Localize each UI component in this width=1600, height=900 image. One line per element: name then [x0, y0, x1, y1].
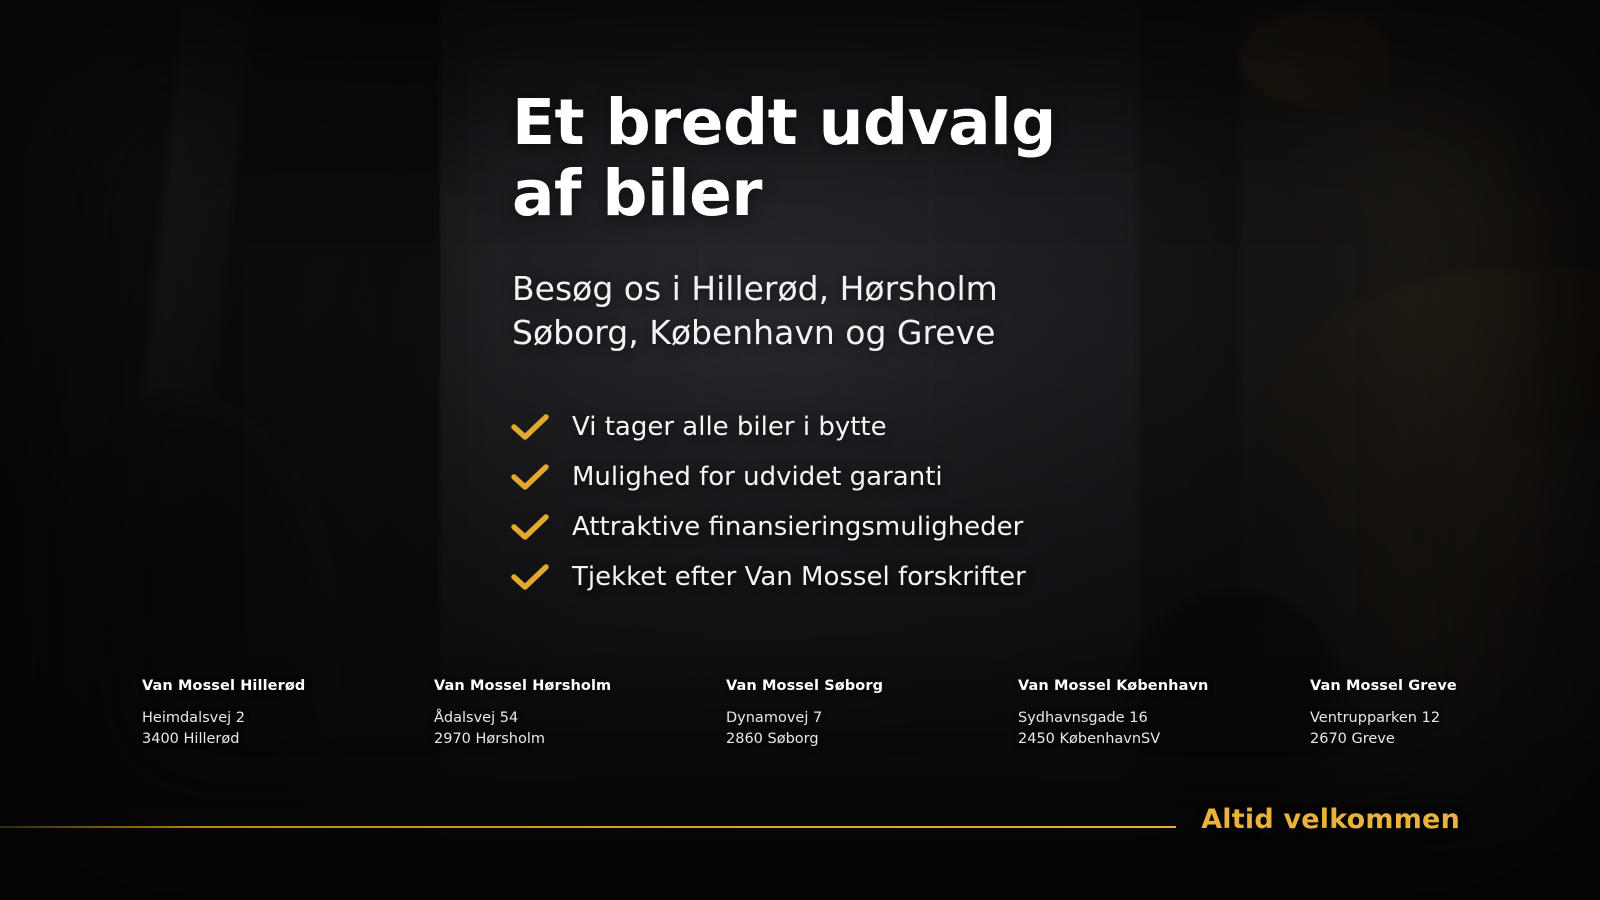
- list-item: Attraktive finansieringsmuligheder: [508, 502, 1026, 552]
- locations-row: Van Mossel Hillerød Heimdalsvej 2 3400 H…: [0, 678, 1600, 749]
- check-icon: [508, 510, 552, 544]
- location-name: Van Mossel Hillerød: [142, 678, 434, 694]
- check-icon: [508, 410, 552, 444]
- headline-line-1: Et bredt udvalg: [512, 86, 1056, 159]
- location-city: 2670 Greve: [1310, 729, 1600, 750]
- list-item: Vi tager alle biler i bytte: [508, 402, 1026, 452]
- page-subtitle: Besøg os i Hillerød, Hørsholm Søborg, Kø…: [512, 267, 1232, 354]
- benefit-label: Tjekket efter Van Mossel forskrifter: [572, 564, 1026, 590]
- benefit-label: Attraktive finansieringsmuligheder: [572, 514, 1023, 540]
- brand-tagline: Altid velkommen: [1201, 804, 1460, 835]
- benefits-list: Vi tager alle biler i bytte Mulighed for…: [508, 402, 1026, 602]
- location-name: Van Mossel Søborg: [726, 678, 1018, 694]
- location-name: Van Mossel Greve: [1310, 678, 1600, 694]
- location-city: 3400 Hillerød: [142, 729, 434, 750]
- gold-divider-line: [0, 826, 1176, 828]
- location-card: Van Mossel København Sydhavnsgade 16 245…: [1018, 678, 1310, 749]
- list-item: Tjekket efter Van Mossel forskrifter: [508, 552, 1026, 602]
- check-icon: [508, 460, 552, 494]
- location-street: Dynamovej 7: [726, 708, 1018, 729]
- location-street: Sydhavnsgade 16: [1018, 708, 1310, 729]
- hero-banner: Et bredt udvalg af biler Besøg os i Hill…: [0, 0, 1600, 900]
- benefit-label: Mulighed for udvidet garanti: [572, 464, 943, 490]
- hero-content: Et bredt udvalg af biler Besøg os i Hill…: [0, 0, 1600, 900]
- benefit-label: Vi tager alle biler i bytte: [572, 414, 887, 440]
- list-item: Mulighed for udvidet garanti: [508, 452, 1026, 502]
- subtitle-line-1: Besøg os i Hillerød, Hørsholm: [512, 269, 998, 308]
- location-city: 2450 KøbenhavnSV: [1018, 729, 1310, 750]
- location-name: Van Mossel Hørsholm: [434, 678, 726, 694]
- location-card: Van Mossel Hørsholm Ådalsvej 54 2970 Hør…: [434, 678, 726, 749]
- location-street: Ventrupparken 12: [1310, 708, 1600, 729]
- location-card: Van Mossel Søborg Dynamovej 7 2860 Søbor…: [726, 678, 1018, 749]
- check-icon: [508, 560, 552, 594]
- location-street: Ådalsvej 54: [434, 708, 726, 729]
- location-street: Heimdalsvej 2: [142, 708, 434, 729]
- headline-line-2: af biler: [512, 157, 762, 230]
- page-title: Et bredt udvalg af biler: [512, 88, 1212, 229]
- subtitle-line-2: Søborg, København og Greve: [512, 313, 995, 352]
- location-city: 2970 Hørsholm: [434, 729, 726, 750]
- location-card: Van Mossel Hillerød Heimdalsvej 2 3400 H…: [142, 678, 434, 749]
- location-card: Van Mossel Greve Ventrupparken 12 2670 G…: [1310, 678, 1600, 749]
- location-name: Van Mossel København: [1018, 678, 1310, 694]
- location-city: 2860 Søborg: [726, 729, 1018, 750]
